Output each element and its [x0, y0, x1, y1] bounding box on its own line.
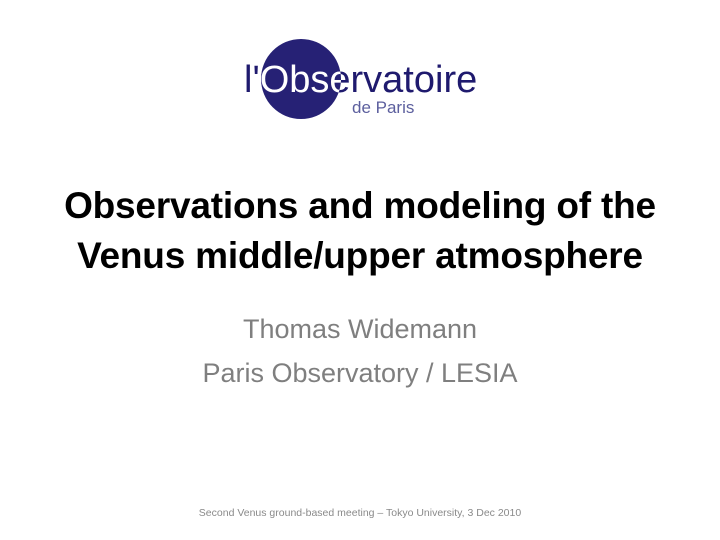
observatoire-de-paris-logo: l'Observatoire l'Observatoire de Paris [0, 30, 720, 130]
footer-text: Second Venus ground-based meeting – Toky… [0, 506, 720, 520]
title-slide: l'Observatoire l'Observatoire de Paris O… [0, 0, 720, 540]
page-subtitle: Thomas Widemann Paris Observatory / LESI… [60, 307, 660, 395]
logo-graphic: l'Observatoire l'Observatoire de Paris [230, 30, 490, 130]
title-line-1: Observations and modeling of the [40, 181, 680, 231]
page-title: Observations and modeling of the Venus m… [40, 181, 680, 281]
slide-footer: Second Venus ground-based meeting – Toky… [0, 506, 720, 520]
subtitle-affiliation: Paris Observatory / LESIA [60, 351, 660, 395]
title-line-2: Venus middle/upper atmosphere [40, 231, 680, 281]
logo-tagline: de Paris [352, 98, 414, 117]
subtitle-author: Thomas Widemann [60, 307, 660, 351]
logo-wordmark: l'Observatoire l'Observatoire [244, 59, 477, 101]
